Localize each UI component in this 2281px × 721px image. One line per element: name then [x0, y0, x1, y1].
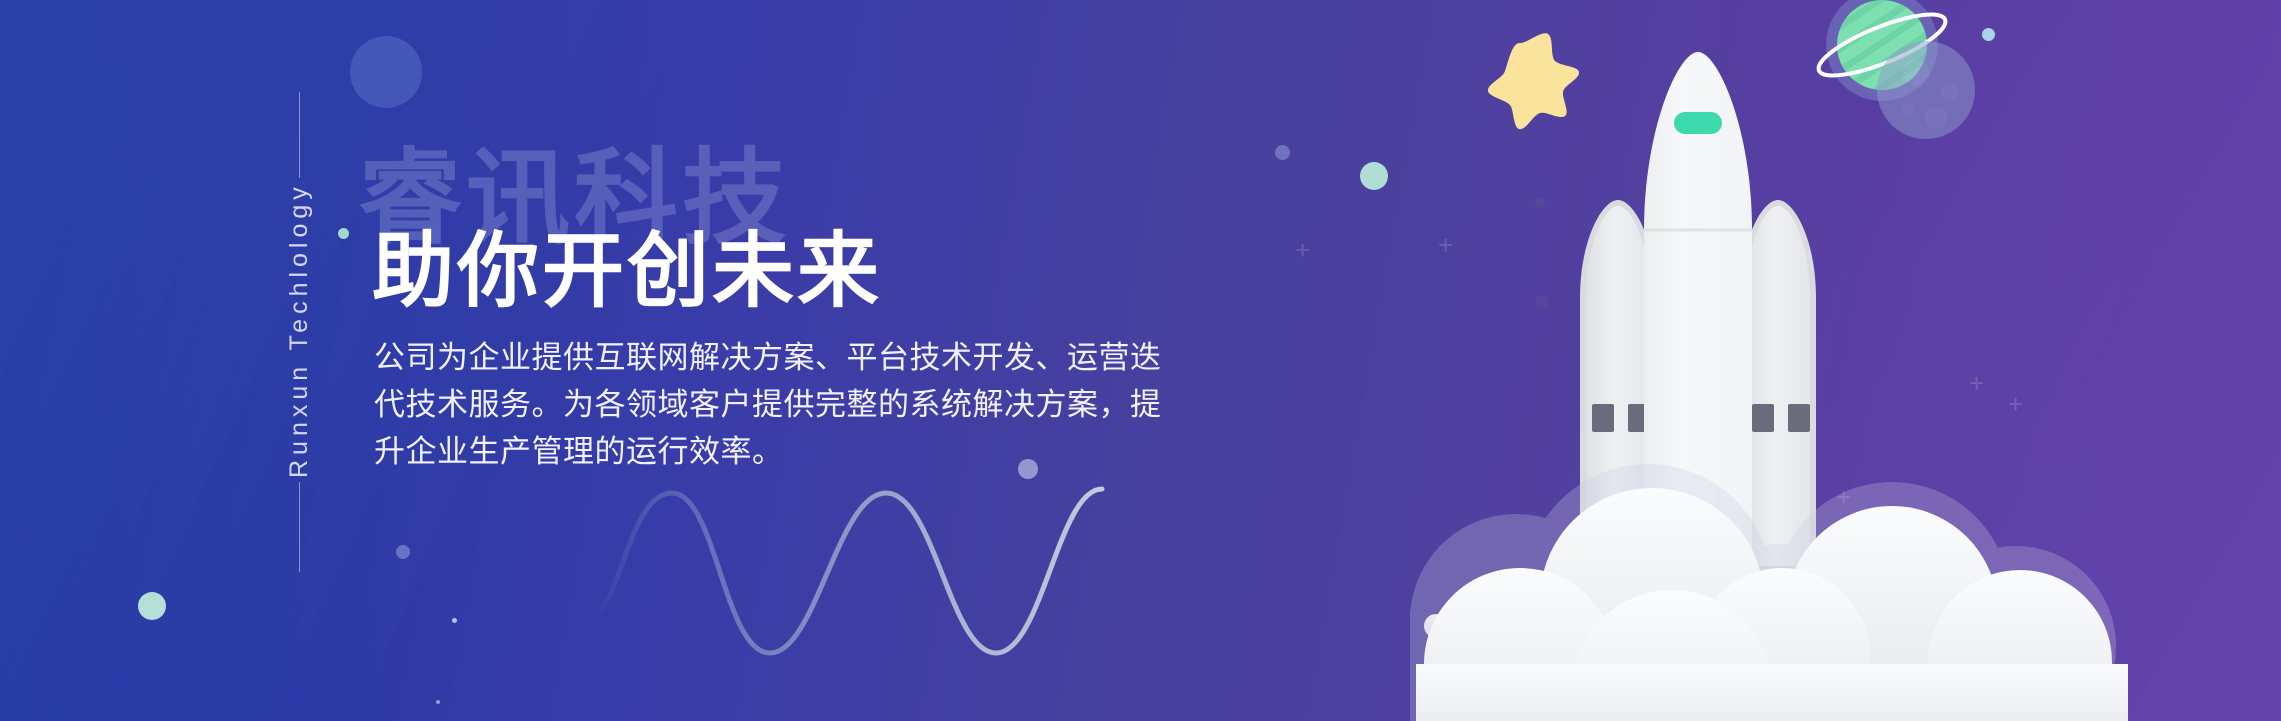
hero-banner: + + + + + Runxun Techlology 睿讯科技 助你开创未来 … [0, 0, 2281, 721]
decor-dot-mint-small [338, 228, 349, 239]
vertical-divider-top [299, 92, 300, 178]
sine-wave-decoration [600, 455, 1240, 665]
decor-dot-periwinkle [396, 545, 410, 559]
decor-dot-large-blue [350, 36, 422, 108]
vertical-brand-text: Runxun Techlology [285, 178, 314, 482]
decor-dot-tiny-b [436, 700, 440, 704]
rocket-window [1674, 112, 1722, 134]
moon-icon [1877, 41, 1975, 139]
vertical-divider-bottom [299, 482, 300, 572]
star-icon [1488, 33, 1579, 129]
vertical-brand-label: Runxun Techlology [276, 92, 322, 572]
decor-dot-mint-large [138, 592, 166, 620]
decor-dot-periwinkle-mid [1275, 145, 1290, 160]
rocket-illustration [1380, 0, 2281, 721]
page-title: 助你开创未来 [372, 204, 882, 323]
sparkle-plus-icon-2: + [1295, 237, 1310, 263]
decor-dot-tiny-a [452, 618, 457, 623]
